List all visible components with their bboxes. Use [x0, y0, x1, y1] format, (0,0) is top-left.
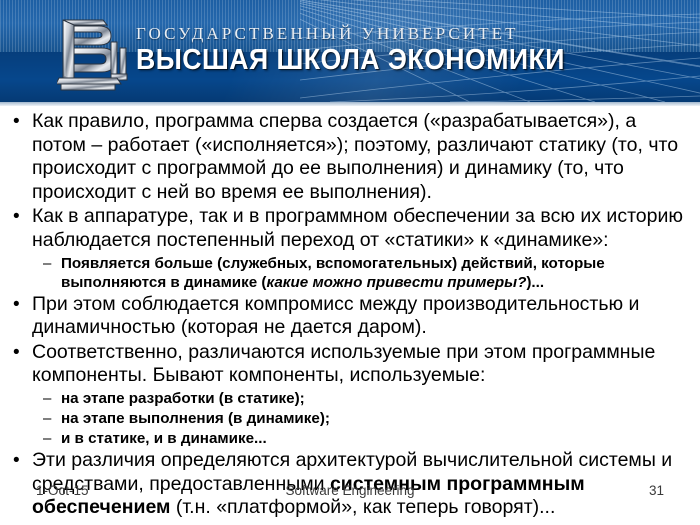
bullet-text: и в статике, и в динамике...	[61, 429, 669, 449]
sub-bullet-item: –Появляется больше (служебных, вспомогат…	[0, 254, 700, 293]
bullet-item: •Как правило, программа сперва создается…	[0, 110, 700, 204]
university-line-1: ГОСУДАРСТВЕННЫЙ УНИВЕРСИТЕТ	[136, 24, 556, 44]
university-name-block: ГОСУДАРСТВЕННЫЙ УНИВЕРСИТЕТ ВЫСШАЯ ШКОЛА…	[136, 24, 556, 77]
bullet-text: Как правило, программа сперва создается …	[32, 110, 692, 204]
bullet-marker-icon: •	[10, 449, 32, 473]
slide-footer: 1-Oct-15 Software Engineering 31	[0, 483, 700, 505]
sub-bullet-item: –и в статике, и в динамике...	[0, 429, 700, 449]
bullet-text: При этом соблюдается компромисс между пр…	[32, 293, 692, 340]
sub-bullet-dash-icon: –	[43, 254, 61, 274]
bullet-text: на этапе выполнения (в динамике);	[61, 409, 669, 429]
slide-header-banner: ГОСУДАРСТВЕННЫЙ УНИВЕРСИТЕТ ВЫСШАЯ ШКОЛА…	[0, 0, 700, 102]
bullet-marker-icon: •	[10, 205, 32, 229]
bullet-text: Как в аппаратуре, так и в программном об…	[32, 205, 692, 252]
slide-body-content: •Как правило, программа сперва создается…	[0, 110, 700, 470]
sub-bullet-dash-icon: –	[43, 389, 61, 409]
bullet-item: •Как в аппаратуре, так и в программном о…	[0, 205, 700, 252]
footer-page-number: 31	[649, 483, 664, 498]
bullet-text: на этапе разработки (в статике);	[61, 389, 669, 409]
sub-bullet-item: –на этапе разработки (в статике);	[0, 389, 700, 409]
bullet-marker-icon: •	[10, 110, 32, 134]
bullet-item: •Соответственно, различаются используемы…	[0, 341, 700, 388]
sub-bullet-dash-icon: –	[43, 429, 61, 449]
bullet-item: •При этом соблюдается компромисс между п…	[0, 293, 700, 340]
bullet-marker-icon: •	[10, 341, 32, 365]
sub-bullet-dash-icon: –	[43, 409, 61, 429]
banner-underline-divider	[0, 102, 700, 106]
university-line-2: ВЫСШАЯ ШКОЛА ЭКОНОМИКИ	[136, 44, 522, 77]
footer-title: Software Engineering	[0, 483, 700, 498]
sub-bullet-item: –на этапе выполнения (в динамике);	[0, 409, 700, 429]
hse-monogram-logo-icon	[57, 12, 133, 94]
bullet-text: Появляется больше (служебных, вспомогате…	[61, 254, 669, 293]
bullet-text: Соответственно, различаются используемые…	[32, 341, 692, 388]
bullet-marker-icon: •	[10, 293, 32, 317]
